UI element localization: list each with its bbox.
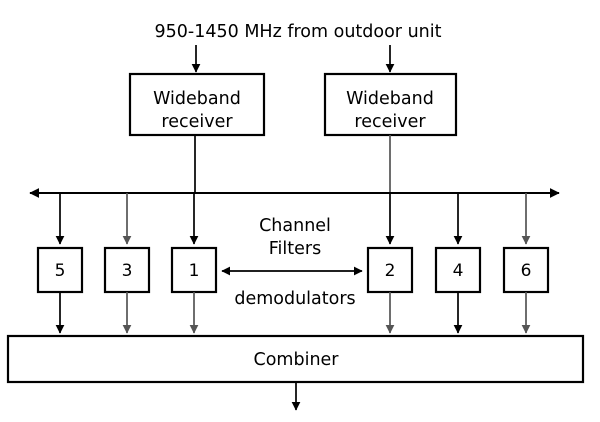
channel-box-3-label: 3 bbox=[122, 261, 133, 281]
wideband-receiver-1-line2: receiver bbox=[161, 112, 233, 132]
channel-filters-label-line1: Channel bbox=[259, 216, 331, 236]
channel-box-4-label: 4 bbox=[453, 261, 464, 281]
input-signal-label: 950-1450 MHz from outdoor unit bbox=[155, 22, 442, 42]
wideband-receiver-1-line1: Wideband bbox=[153, 89, 241, 109]
channel-box-1-label: 1 bbox=[189, 261, 200, 281]
channel-filters-label-line2: Filters bbox=[269, 239, 321, 259]
wideband-receiver-2-line2: receiver bbox=[354, 112, 426, 132]
channel-box-5-label: 5 bbox=[55, 261, 66, 281]
block-diagram: 950-1450 MHz from outdoor unit Wideband … bbox=[0, 0, 600, 422]
channel-box-2-label: 2 bbox=[385, 261, 396, 281]
wideband-receiver-2-line1: Wideband bbox=[346, 89, 434, 109]
channel-box-6-label: 6 bbox=[521, 261, 532, 281]
diagram-canvas: 950-1450 MHz from outdoor unit Wideband … bbox=[0, 0, 600, 422]
demodulators-label: demodulators bbox=[234, 289, 355, 309]
combiner-label: Combiner bbox=[254, 350, 340, 370]
